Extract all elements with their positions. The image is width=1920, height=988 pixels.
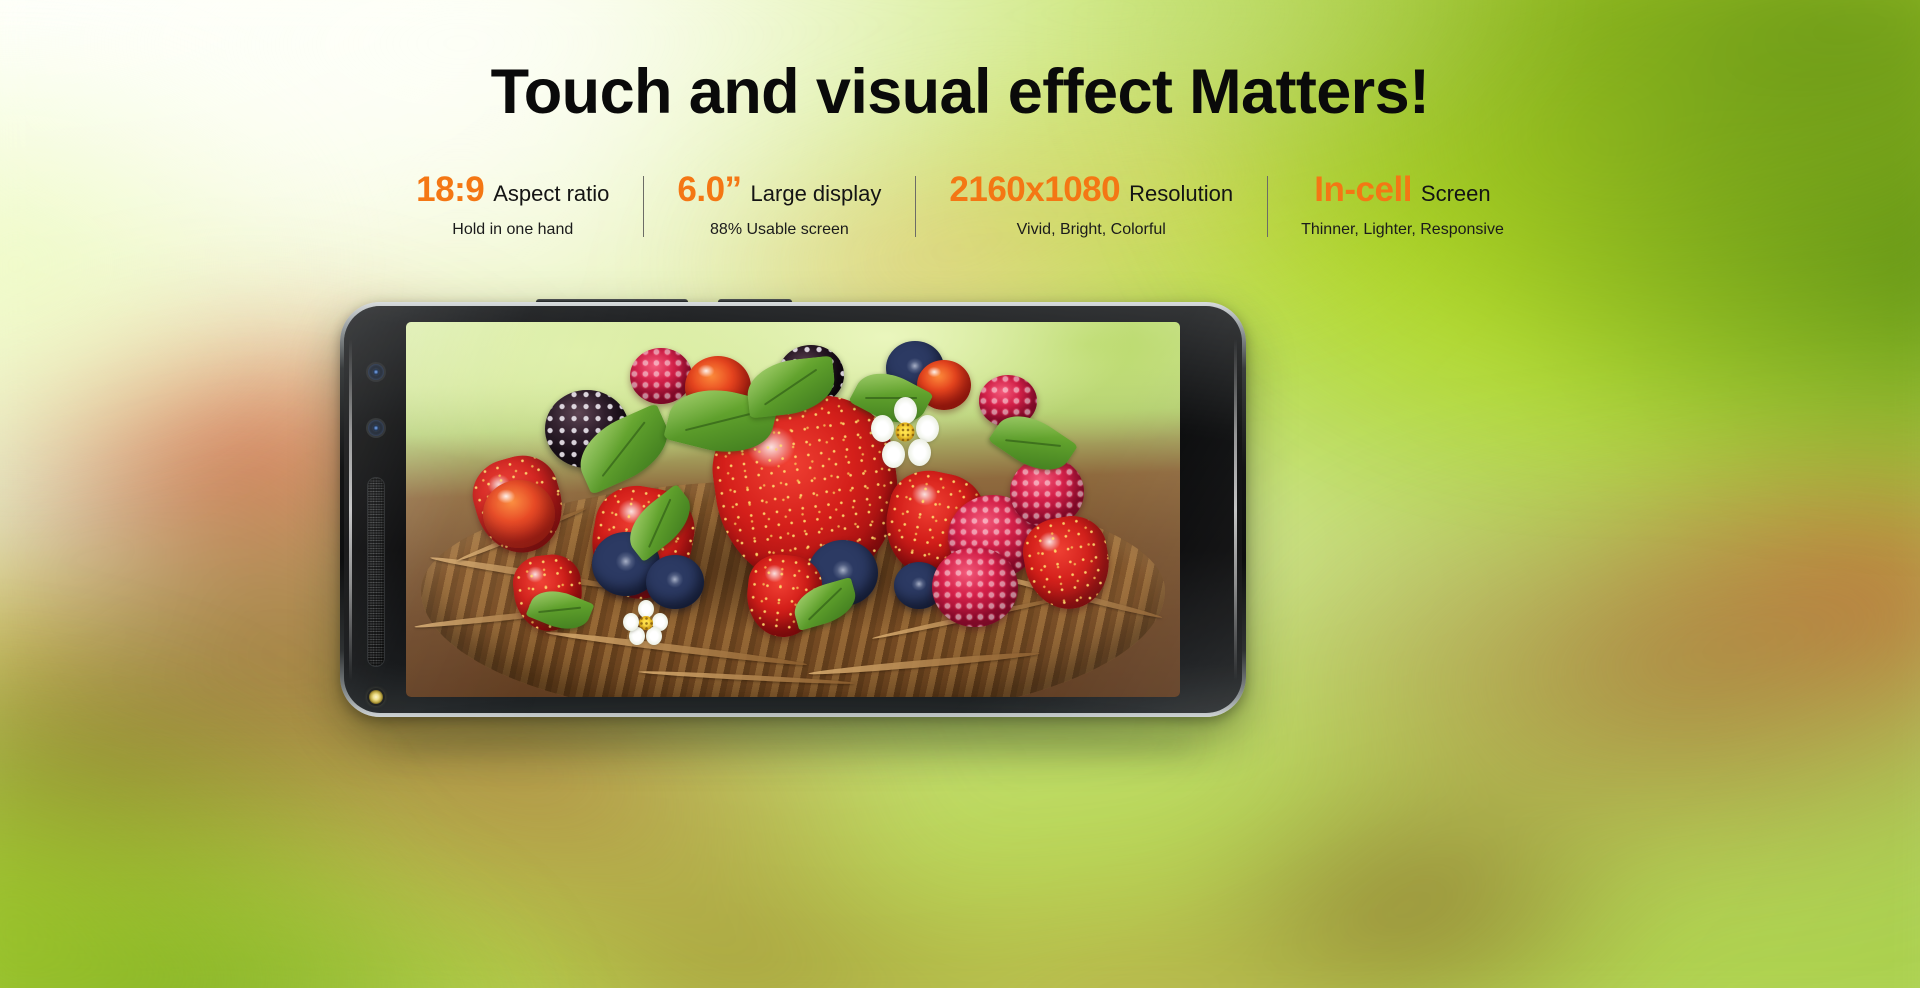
petal bbox=[916, 415, 939, 442]
cherry-tomato bbox=[483, 480, 555, 548]
feature-headline-row: In-cell Screen bbox=[1314, 172, 1490, 207]
earpiece-speaker bbox=[368, 478, 384, 666]
feature-highlight: In-cell bbox=[1314, 172, 1412, 207]
blossom-center bbox=[896, 423, 915, 442]
feature-headline-row: 2160x1080 Resolution bbox=[949, 172, 1233, 207]
feature-label: Large display bbox=[751, 183, 882, 205]
left-edge-highlight bbox=[349, 339, 352, 681]
petal bbox=[646, 627, 662, 645]
feature-subtitle: Thinner, Lighter, Responsive bbox=[1301, 221, 1504, 239]
feature-label: Screen bbox=[1421, 183, 1491, 205]
page-title: Touch and visual effect Matters! bbox=[0, 58, 1920, 127]
petal bbox=[623, 613, 639, 631]
flower-center bbox=[639, 616, 653, 630]
feature-subtitle: 88% Usable screen bbox=[710, 221, 849, 239]
notification-led-icon bbox=[369, 690, 383, 704]
small-yellow-flower bbox=[623, 600, 669, 646]
feature-subtitle: Hold in one hand bbox=[452, 221, 573, 239]
petal bbox=[871, 415, 894, 442]
feature-highlight: 6.0” bbox=[677, 172, 741, 207]
feature-display-size: 6.0” Large display 88% Usable screen bbox=[643, 172, 915, 239]
phone-screen[interactable] bbox=[406, 322, 1180, 697]
right-edge-highlight bbox=[1234, 339, 1237, 681]
feature-resolution: 2160x1080 Resolution Vivid, Bright, Colo… bbox=[915, 172, 1267, 239]
raspberry bbox=[932, 547, 1018, 627]
white-blossom bbox=[870, 397, 940, 467]
feature-highlight: 2160x1080 bbox=[949, 172, 1120, 207]
petal bbox=[908, 439, 931, 466]
petal bbox=[894, 397, 917, 424]
phone-body bbox=[344, 306, 1242, 713]
phone-shadow bbox=[386, 717, 1200, 777]
secondary-sensor-icon bbox=[368, 420, 384, 436]
feature-aspect-ratio: 18:9 Aspect ratio Hold in one hand bbox=[382, 172, 643, 239]
feature-headline-row: 18:9 Aspect ratio bbox=[416, 172, 609, 207]
petal bbox=[882, 441, 905, 468]
feature-screen-tech: In-cell Screen Thinner, Lighter, Respons… bbox=[1267, 172, 1538, 239]
feature-subtitle: Vivid, Bright, Colorful bbox=[1017, 221, 1166, 239]
feature-label: Aspect ratio bbox=[493, 183, 609, 205]
feature-highlight: 18:9 bbox=[416, 172, 484, 207]
bottom-bezel bbox=[1180, 306, 1242, 713]
feature-strip: 18:9 Aspect ratio Hold in one hand 6.0” … bbox=[0, 172, 1920, 239]
top-bezel bbox=[344, 306, 406, 713]
smartphone-device bbox=[340, 302, 1246, 717]
feature-headline-row: 6.0” Large display bbox=[677, 172, 881, 207]
front-camera-icon bbox=[368, 364, 384, 380]
wallpaper-berries-basket bbox=[406, 322, 1180, 697]
feature-label: Resolution bbox=[1129, 183, 1233, 205]
